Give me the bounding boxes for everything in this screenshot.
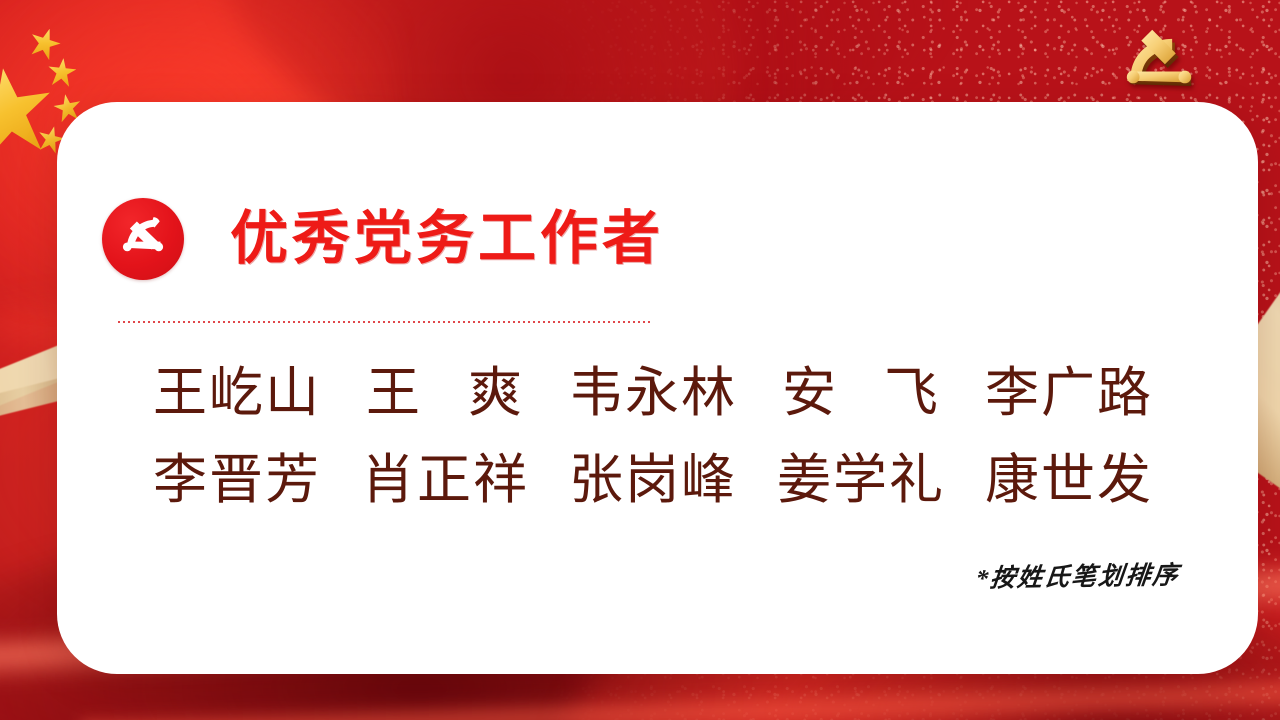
honoree-name: 韦永林 <box>565 354 741 433</box>
honoree-name-list: 王屹山 王爽 韦永林 安飞 李广路 李晋芳 <box>149 354 1179 528</box>
name-row: 李晋芳 肖正祥 张岗峰 姜学礼 康世发 <box>149 441 1179 520</box>
honoree-name: 姜学礼 <box>773 441 949 520</box>
dotted-divider <box>118 321 651 323</box>
sort-order-footnote: *按姓氏笔划排序 <box>974 555 1182 595</box>
honoree-name: 安飞 <box>773 354 949 433</box>
honoree-name: 肖正祥 <box>357 441 533 520</box>
honoree-name: 李晋芳 <box>149 441 325 520</box>
name-row: 王屹山 王爽 韦永林 安飞 李广路 <box>149 354 1179 433</box>
slide-canvas: 优秀党务工作者 王屹山 王爽 韦永林 安飞 李广路 <box>0 0 1280 720</box>
honoree-name: 王爽 <box>357 354 533 433</box>
honoree-name: 王屹山 <box>149 354 325 433</box>
honoree-name: 李广路 <box>981 354 1157 433</box>
page-title: 优秀党务工作者 <box>230 210 664 268</box>
content-card: 优秀党务工作者 王屹山 王爽 韦永林 安飞 李广路 <box>57 102 1258 674</box>
party-emblem-badge <box>102 198 184 280</box>
party-emblem-hammer-sickle-icon <box>115 211 171 267</box>
honoree-name: 康世发 <box>981 441 1157 520</box>
honoree-name: 张岗峰 <box>565 441 741 520</box>
gold-party-emblem-icon <box>1118 18 1210 96</box>
card-header: 优秀党务工作者 <box>102 198 664 280</box>
